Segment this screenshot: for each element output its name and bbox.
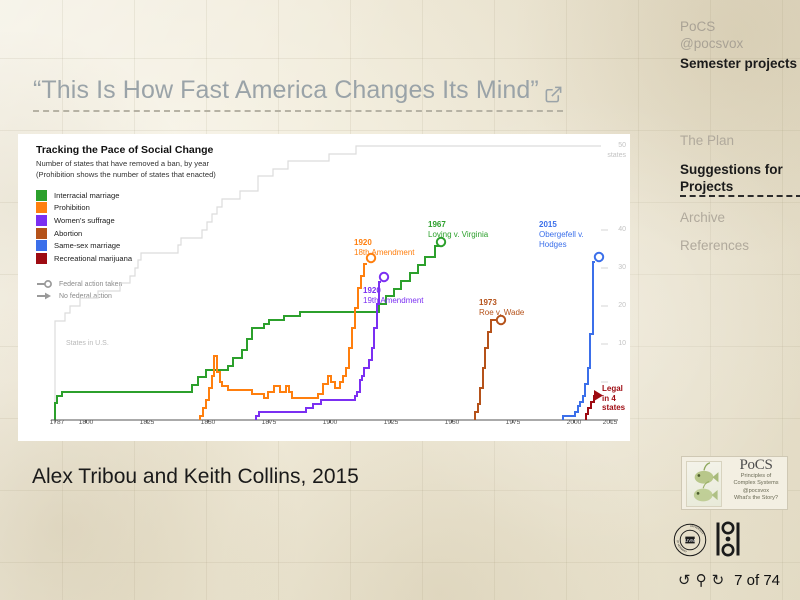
annotation-year: 2015 [539,220,557,229]
history-back-icon[interactable]: ↺ [678,573,691,588]
annotation-obergefell-v-hodges: 2015 Obergefell v. Hodges [539,220,591,250]
annotation-text: Obergefell v. Hodges [539,230,584,249]
x-axis-tick-1950: 1950 [445,419,460,426]
reference-series-label: States in U.S. [66,340,109,347]
y-axis-tick-40: 40 [618,226,626,233]
x-axis-tick-1850: 1850 [201,419,216,426]
y-axis-tick-50: 50 [618,142,626,149]
pocs-logo-line-1: Principles of [725,473,787,480]
pocs-logo-line-4: What's the Story? [725,495,787,502]
sidebar: PoCS @pocsvox Semester projects The Plan… [668,0,800,600]
annotation-19th-amendment: 1920 19th Amendment [363,286,423,306]
annotation-year: 1920 [363,286,381,295]
uvm-seal-icon: UVM UNIVERSITY OF VERMONT [673,523,707,557]
series-line-abortion [475,320,497,420]
y-axis-tick-10: 10 [618,340,626,347]
annotation-year: 1920 [354,238,372,247]
series-endpoint-same-sex-marriage [595,253,603,261]
series-line-prohibition [200,264,367,420]
slide-navigation-bar: ↺ ⚲ ↻ 7 of 74 [678,572,780,589]
sidebar-handle: @pocsvox [680,35,800,52]
annotation-legal-in-4-states: Legal in 4 states [602,384,632,413]
pocs-logo-title: PoCS [725,458,787,473]
external-link-icon[interactable] [544,82,563,101]
annotation-roe-v-wade: 1973 Roe v. Wade [479,298,524,318]
x-axis-tick-1975: 1975 [506,419,521,426]
annotation-text: Roe v. Wade [479,308,524,317]
annotation-text: 18th Amendment [354,248,414,257]
annotation-loving-v-virginia: 1967 Loving v. Virginia [428,220,488,240]
annotation-year: 1973 [479,298,497,307]
slide-attribution: Alex Tribou and Keith Collins, 2015 [32,465,359,489]
search-icon[interactable]: ⚲ [696,573,707,588]
x-axis-tick-1900: 1900 [323,419,338,426]
x-axis-tick-2000: 2000 [567,419,582,426]
x-axis-tick-1925: 1925 [384,419,399,426]
sidebar-nav: The Plan Suggestions for Projects Archiv… [680,133,800,266]
sidebar-item-the-plan[interactable]: The Plan [680,133,800,149]
sidebar-brand: PoCS [680,18,800,35]
sidebar-item-suggestions-for-projects[interactable]: Suggestions for Projects [680,161,800,197]
x-axis-tick-1875: 1875 [262,419,277,426]
x-axis-tick-1825: 1825 [140,419,155,426]
series-endpoint-womens-suffrage [380,273,388,281]
x-axis-tick-2015: 2015 [603,419,618,426]
slide-title-link[interactable]: “This Is How Fast America Changes Its Mi… [33,76,563,112]
y-axis-tick-30: 30 [618,264,626,271]
series-line-same-sex-marriage [563,262,595,420]
annotation-18th-amendment: 1920 18th Amendment [354,238,414,258]
pocs-logo-line-3: @pocsvox [725,488,787,495]
chart-plot-area [18,134,630,441]
annotation-text: Legal in 4 states [602,384,625,412]
annotation-year: 1967 [428,220,446,229]
x-axis-tick-1800: 1800 [79,419,94,426]
annotation-text: Loving v. Virginia [428,230,488,239]
sidebar-item-archive[interactable]: Archive [680,210,800,226]
x-axis-tick-1787: 1787 [50,419,65,426]
page-title: “This Is How Fast America Changes Its Mi… [33,76,539,105]
pocs-fish-image [686,461,722,507]
y-axis-tick-20: 20 [618,302,626,309]
pocs-logo-line-2: Complex Systems [725,480,787,487]
sidebar-deck-title: Semester projects [680,55,800,73]
pocs-logo-box[interactable]: PoCS Principles of Complex Systems @pocs… [681,456,788,510]
annotation-text: 19th Amendment [363,296,423,305]
svg-text:UVM: UVM [685,538,695,543]
chart-panel: Tracking the Pace of Social Change Numbe… [18,134,630,441]
oso-logo-icon [715,521,741,557]
history-forward-icon[interactable]: ↻ [712,573,725,588]
sidebar-item-references[interactable]: References [680,238,800,254]
pocs-logo-text: PoCS Principles of Complex Systems @pocs… [725,457,787,509]
page-indicator: 7 of 74 [734,572,780,589]
sidebar-header: PoCS @pocsvox Semester projects [668,0,800,73]
y-axis-unit: states [607,152,626,159]
